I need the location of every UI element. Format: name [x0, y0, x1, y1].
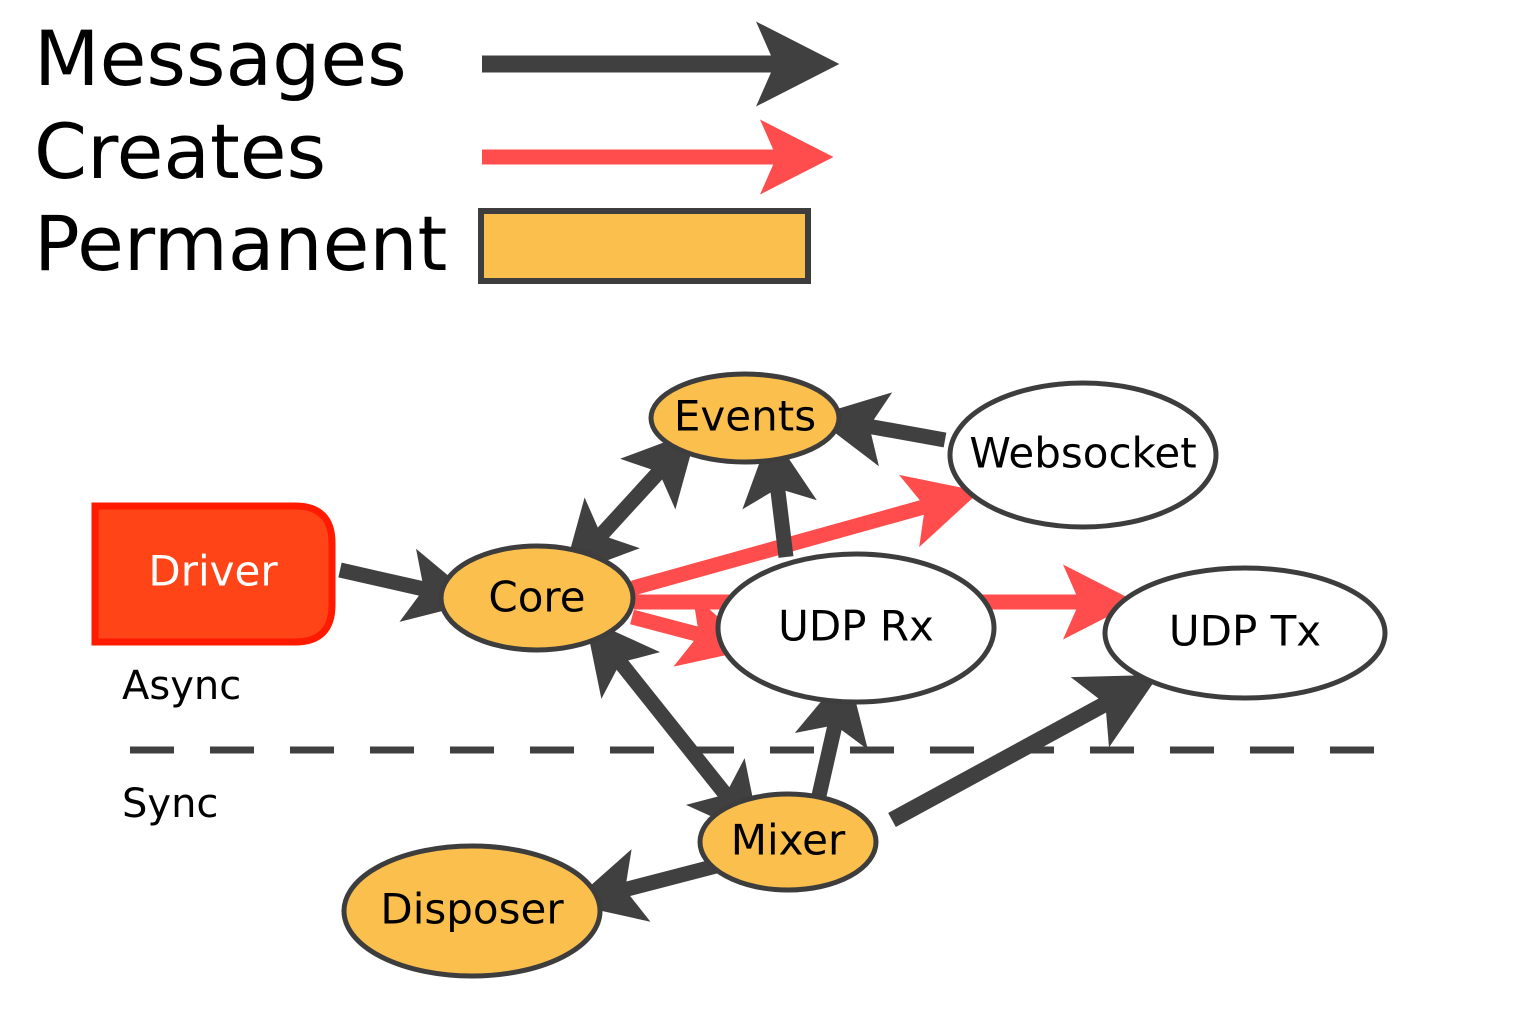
architecture-diagram: Messages Creates Permanent Async Sync [0, 0, 1525, 1013]
edge-core-events-bidirectional [592, 462, 668, 545]
edge-mixer-to-disposer [612, 866, 716, 893]
legend-permanent-swatch-icon [481, 211, 808, 281]
node-mixer[interactable]: Mixer [700, 794, 876, 890]
legend-row-creates: Creates [34, 107, 790, 196]
node-driver-label: Driver [148, 547, 278, 596]
nodes-layer: Driver Events Websocket Core UDP Rx [95, 374, 1385, 976]
legend-label-permanent: Permanent [34, 199, 447, 288]
node-websocket[interactable]: UDP Rx [718, 554, 994, 702]
legend-row-messages: Messages [34, 14, 790, 103]
legend-row-permanent: Permanent [34, 199, 808, 288]
node-events[interactable]: Events [651, 374, 839, 462]
legend-label-messages: Messages [34, 14, 407, 103]
node-core[interactable]: Core [441, 546, 633, 650]
node-websocket-label: UDP Rx [778, 602, 934, 651]
node-udprx[interactable]: Websocket [950, 383, 1216, 527]
node-mixer-label: Mixer [731, 816, 846, 865]
legend: Messages Creates Permanent [34, 14, 808, 288]
legend-label-creates: Creates [34, 107, 326, 196]
edge-mixer-to-udptx [892, 697, 1118, 820]
edge-mixer-to-websocket [818, 712, 838, 800]
edge-udprx-to-events [856, 424, 945, 440]
node-events-label: Events [674, 392, 816, 441]
zone-label-async: Async [122, 663, 241, 709]
edge-core-to-websocket [632, 617, 712, 638]
node-core-label: Core [488, 573, 585, 622]
node-disposer[interactable]: Disposer [344, 846, 600, 976]
node-disposer-label: Disposer [380, 885, 564, 934]
node-udptx-label: UDP Tx [1169, 607, 1321, 656]
edge-core-mixer-bidirectional [612, 652, 734, 805]
diagram-canvas: Messages Creates Permanent Async Sync [0, 0, 1525, 1013]
zone-label-sync: Sync [122, 781, 218, 827]
node-udptx[interactable]: UDP Tx [1105, 568, 1385, 698]
node-udprx-label: Websocket [969, 429, 1196, 478]
edge-driver-to-core [340, 570, 437, 592]
node-driver[interactable]: Driver [95, 506, 332, 642]
edge-websocket-to-events [776, 475, 786, 557]
